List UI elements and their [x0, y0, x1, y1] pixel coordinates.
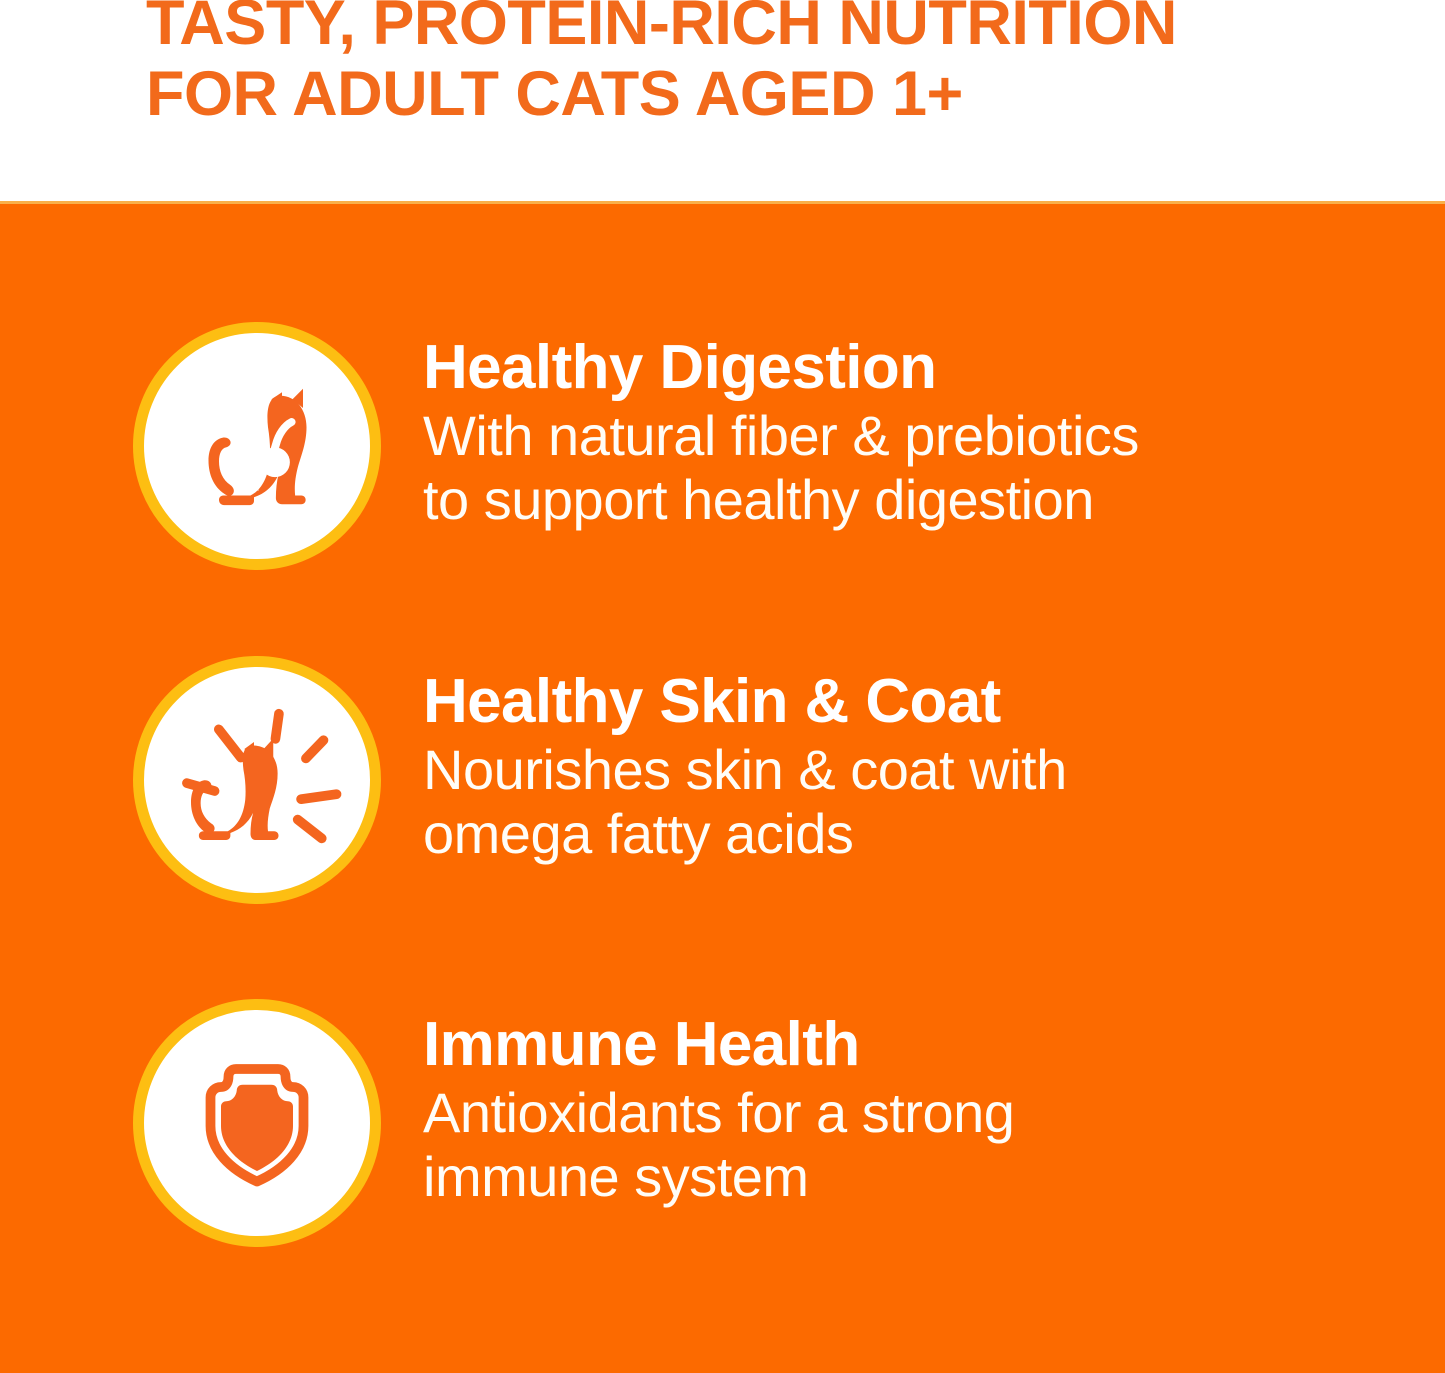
benefit-description: Antioxidants for a strong immune system	[423, 1081, 1323, 1209]
cat-digestion-icon	[133, 322, 381, 570]
benefit-title: Immune Health	[423, 1013, 1445, 1077]
benefit-text-block: Healthy Skin & Coat Nourishes skin & coa…	[423, 656, 1445, 866]
benefit-description: Nourishes skin & coat with omega fatty a…	[423, 738, 1323, 866]
benefit-title: Healthy Skin & Coat	[423, 670, 1445, 734]
benefit-row-immune-health: Immune Health Antioxidants for a strong …	[0, 999, 1445, 1249]
benefit-text-block: Immune Health Antioxidants for a strong …	[423, 999, 1445, 1209]
page-headline: TASTY, PROTEIN-RICH NUTRITION FOR ADULT …	[146, 0, 1386, 130]
benefit-title: Healthy Digestion	[423, 336, 1445, 400]
benefit-icon-wrapper	[133, 999, 381, 1247]
benefit-icon-wrapper	[133, 656, 381, 904]
header-band: TASTY, PROTEIN-RICH NUTRITION FOR ADULT …	[0, 0, 1445, 201]
benefit-row-healthy-skin-and-coat: Healthy Skin & Coat Nourishes skin & coa…	[0, 656, 1445, 906]
benefit-row-healthy-digestion: Healthy Digestion With natural fiber & p…	[0, 322, 1445, 572]
benefits-panel: Healthy Digestion With natural fiber & p…	[0, 201, 1445, 1373]
benefit-text-block: Healthy Digestion With natural fiber & p…	[423, 322, 1445, 532]
benefit-icon-wrapper	[133, 322, 381, 570]
benefit-description: With natural fiber & prebiotics to suppo…	[423, 404, 1323, 532]
cat-shine-icon	[133, 656, 381, 904]
shield-icon	[133, 999, 381, 1247]
